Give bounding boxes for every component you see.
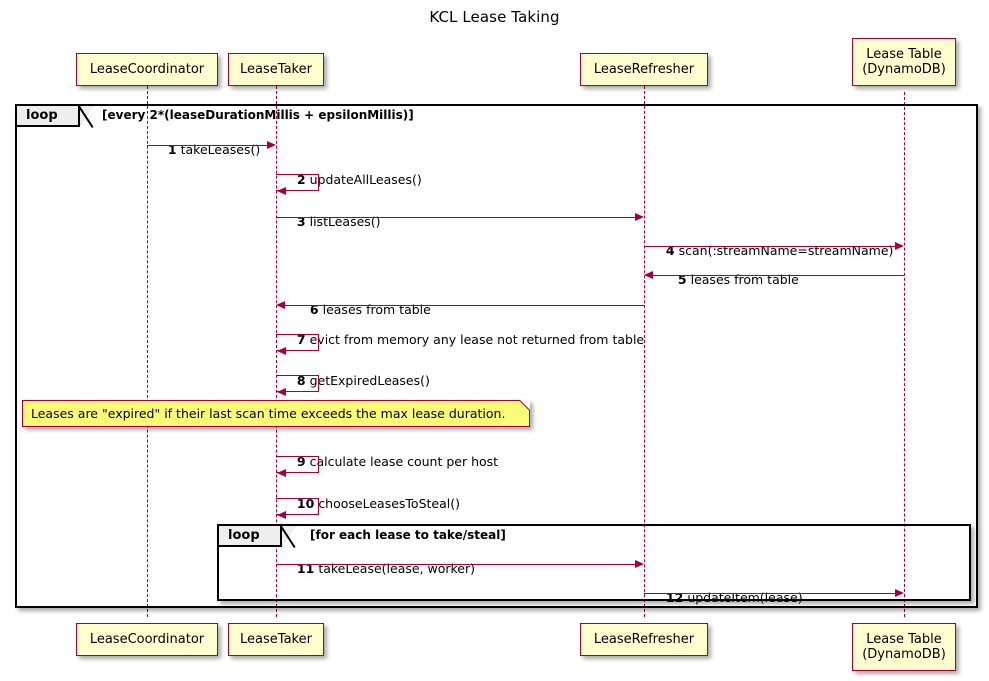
message-4-arrowhead xyxy=(895,242,904,250)
group-outer-loop-condition: [every 2*(leaseDurationMillis + epsilonM… xyxy=(102,108,414,122)
note-expired-definition: Leases are "expired" if their last scan … xyxy=(22,400,530,427)
participant-lease-refresher-bottom[interactable]: LeaseRefresher xyxy=(580,623,708,656)
message-6-line xyxy=(285,305,644,306)
message-12-label: 12updateItem(lease) xyxy=(650,575,803,620)
participant-lease-table-bottom[interactable]: Lease Table (DynamoDB) xyxy=(852,623,956,671)
message-7-text: evict from memory any lease not returned… xyxy=(306,332,645,347)
participant-lease-coordinator-bottom[interactable]: LeaseCoordinator xyxy=(76,623,218,656)
message-9-text: calculate lease count per host xyxy=(306,454,498,469)
participant-lease-refresher-top[interactable]: LeaseRefresher xyxy=(580,53,708,86)
message-3-arrowhead xyxy=(635,213,644,221)
message-1-line xyxy=(147,145,268,146)
message-7-arrowhead xyxy=(277,347,286,355)
message-12-arrowhead xyxy=(895,589,904,597)
group-inner-loop-condition: [for each lease to take/steal] xyxy=(310,528,506,542)
message-2-text: updateAllLeases() xyxy=(306,172,422,187)
group-inner-loop-tab: loop xyxy=(219,526,282,547)
message-1-label: 1takeLeases() xyxy=(152,127,260,172)
participant-lease-taker-top[interactable]: LeaseTaker xyxy=(228,53,324,86)
message-9-arrowhead xyxy=(277,469,286,477)
message-4-line xyxy=(644,246,896,247)
message-8-arrowhead xyxy=(277,388,286,396)
message-6-arrowhead xyxy=(276,301,285,309)
message-10-text: chooseLeasesToSteal() xyxy=(314,496,460,511)
message-3-label: 3listLeases() xyxy=(281,199,381,244)
message-12-line xyxy=(644,593,896,594)
message-5-line xyxy=(653,275,904,276)
message-5-arrowhead xyxy=(644,271,653,279)
message-8-text: getExpiredLeases() xyxy=(306,373,430,388)
message-10-arrowhead xyxy=(277,511,286,519)
message-11-line xyxy=(276,564,636,565)
message-11-arrowhead xyxy=(635,560,644,568)
participant-lease-coordinator-top[interactable]: LeaseCoordinator xyxy=(76,53,218,86)
sequence-diagram-canvas: KCL Lease Taking loop [every 2*(leaseDur… xyxy=(0,0,989,681)
message-1-arrowhead xyxy=(267,141,276,149)
participant-lease-taker-bottom[interactable]: LeaseTaker xyxy=(228,623,324,656)
message-5-label: 5leases from table xyxy=(662,257,799,302)
group-outer-loop-tab: loop xyxy=(17,106,80,127)
message-2-arrowhead xyxy=(277,187,286,195)
message-7-label: 7evict from memory any lease not returne… xyxy=(281,317,644,362)
message-3-line xyxy=(276,217,636,218)
message-11-label: 11takeLease(lease, worker) xyxy=(281,546,475,591)
page-title: KCL Lease Taking xyxy=(0,8,989,26)
participant-lease-table-top[interactable]: Lease Table (DynamoDB) xyxy=(852,38,956,86)
